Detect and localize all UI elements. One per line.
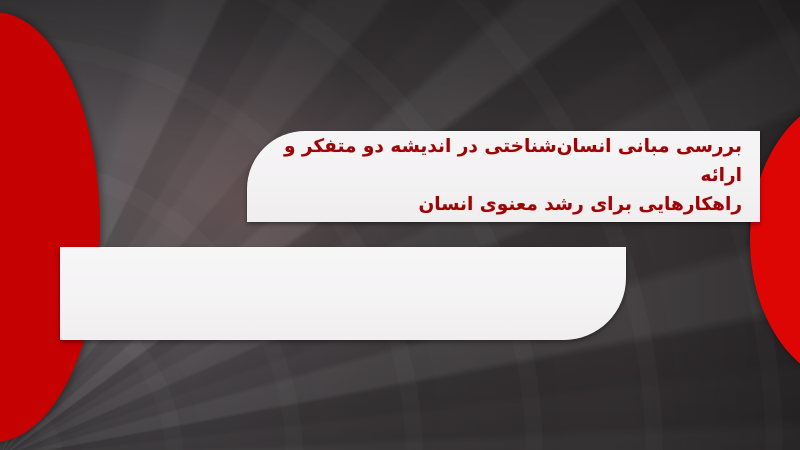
slide-background-vignette bbox=[0, 0, 800, 450]
presentation-slide: بررسی مبانی انسان‌شناختی در اندیشه دو مت… bbox=[0, 0, 800, 450]
title-panel[interactable]: بررسی مبانی انسان‌شناختی در اندیشه دو مت… bbox=[247, 131, 760, 222]
slide-title-line-1: بررسی مبانی انسان‌شناختی در اندیشه دو مت… bbox=[257, 133, 742, 190]
slide-title: بررسی مبانی انسان‌شناختی در اندیشه دو مت… bbox=[257, 133, 742, 219]
subtitle-panel[interactable] bbox=[60, 247, 626, 340]
slide-title-line-2: راهکارهایی برای رشد معنوی انسان bbox=[257, 191, 742, 220]
